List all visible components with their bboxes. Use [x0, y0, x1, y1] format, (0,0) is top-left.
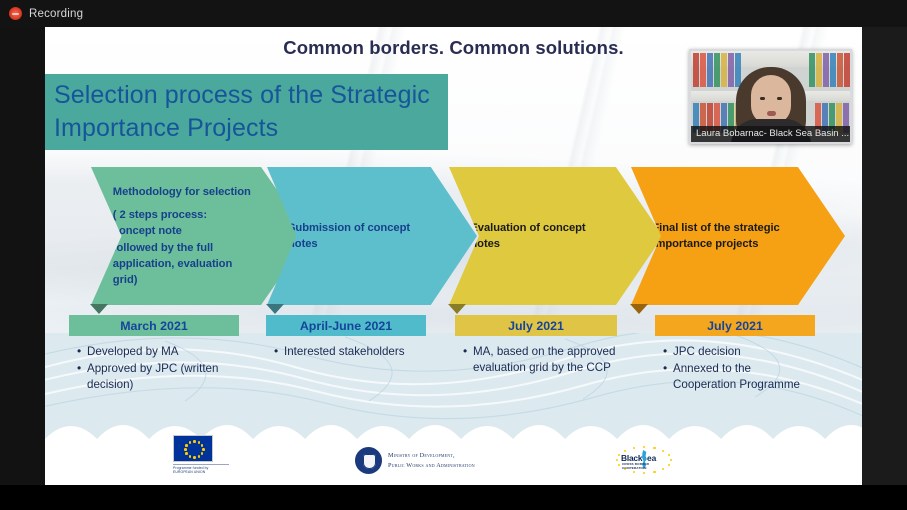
arrow-label-submission: Submission of conceptnotes — [267, 220, 477, 252]
detail-column-evaluation: July 2021MA, based on the approved evalu… — [455, 315, 617, 377]
ministry-text: Ministry of Development, Public Works an… — [388, 451, 475, 470]
process-arrow-submission: Submission of conceptnotes — [267, 167, 477, 305]
slide-title-line-1: Selection process of the Strategic — [54, 79, 448, 113]
eu-star-icon — [189, 441, 192, 444]
detail-column-methodology: March 2021Developed by MAApproved by JPC… — [69, 315, 239, 394]
black-sea-star-icon — [668, 454, 670, 456]
screen-share-window: Recording — [0, 0, 907, 510]
black-sea-subtitle: CROSS BORDER COOPERATION — [622, 462, 649, 470]
eu-star-icon — [189, 455, 192, 458]
black-sea-logo: Black ea CROSS BORDER COOPERATION — [613, 445, 675, 475]
detail-column-submission: April-June 2021Interested stakeholders — [266, 315, 426, 361]
binder-icon — [816, 53, 822, 87]
arrow-notch-submission — [266, 304, 284, 314]
participant-name-label: Laura Bobarnac- Black Sea Basin ... — [691, 126, 850, 142]
black-sea-star-icon — [653, 447, 655, 449]
eu-caption: Programme funded by EUROPEAN UNION — [173, 464, 229, 475]
black-sea-star-icon — [643, 472, 645, 474]
binder-icon — [850, 103, 852, 133]
process-detail-columns: March 2021Developed by MAApproved by JPC… — [45, 315, 862, 435]
list-item: Annexed to the Cooperation Programme — [663, 361, 815, 393]
list-item: Interested stakeholders — [274, 344, 426, 360]
slide-footer: Programme funded by EUROPEAN UNION Minis… — [45, 431, 862, 477]
black-sea-star-icon — [633, 447, 635, 449]
arrow-notch-evaluation — [448, 304, 466, 314]
list-item: Developed by MA — [77, 344, 239, 360]
recording-indicator[interactable]: Recording — [9, 7, 83, 20]
date-badge-submission: April-June 2021 — [266, 315, 426, 336]
binder-icon — [721, 53, 727, 87]
eu-star-icon — [185, 444, 188, 447]
black-sea-star-icon — [616, 459, 618, 461]
recording-label: Recording — [29, 8, 83, 20]
eu-star-icon — [201, 444, 204, 447]
black-sea-star-icon — [643, 446, 645, 448]
date-badge-evaluation: July 2021 — [455, 315, 617, 336]
recording-bar: Recording — [0, 0, 907, 27]
black-sea-star-icon — [670, 459, 672, 461]
arrow-notch-final-list — [630, 304, 648, 314]
presentation-slide: Common borders. Common solutions. Select… — [45, 27, 862, 485]
eu-star-icon — [184, 448, 187, 451]
ministry-line-2: Public Works and Administration — [388, 461, 475, 470]
binder-icon — [700, 53, 706, 87]
black-sea-star-icon — [653, 471, 655, 473]
list-item: Approved by JPC (written decision) — [77, 361, 239, 393]
bullet-list-final-list: JPC decisionAnnexed to the Cooperation P… — [655, 344, 815, 393]
slide-title-box: Selection process of the Strategic Impor… — [45, 74, 448, 150]
record-dot-icon — [9, 7, 22, 20]
ministry-seal-icon — [355, 447, 382, 474]
black-sea-star-icon — [668, 464, 670, 466]
eu-star-icon — [193, 440, 196, 443]
process-arrow-final-list: Final list of the strategicimportance pr… — [631, 167, 845, 305]
binder-icon — [693, 53, 699, 87]
detail-column-final-list: July 2021JPC decisionAnnexed to the Coop… — [655, 315, 815, 394]
black-sea-sub-2: COOPERATION — [622, 466, 646, 470]
right-gutter — [862, 27, 907, 510]
bullet-list-methodology: Developed by MAApproved by JPC (written … — [69, 344, 239, 393]
ministry-line-1: Ministry of Development, — [388, 451, 475, 460]
eu-flag-logo: Programme funded by EUROPEAN UNION — [173, 435, 217, 475]
binder-icon — [823, 53, 829, 87]
arrow-label-final-list: Final list of the strategicimportance pr… — [631, 220, 845, 252]
ministry-logo: Ministry of Development, Public Works an… — [355, 447, 475, 474]
arrow-notch-methodology — [90, 304, 108, 314]
binder-icon — [844, 53, 850, 87]
bullet-list-evaluation: MA, based on the approved evaluation gri… — [455, 344, 617, 376]
eu-star-icon — [202, 448, 205, 451]
date-badge-final-list: July 2021 — [655, 315, 815, 336]
eu-caption-line-2: EUROPEAN UNION — [173, 470, 229, 475]
participant-video-tile[interactable]: Laura Bobarnac- Black Sea Basin ... — [689, 49, 852, 144]
list-item: JPC decision — [663, 344, 815, 360]
black-sea-star-icon — [662, 468, 664, 470]
process-arrow-row: Methodology for selection( 2 steps proce… — [45, 167, 862, 322]
arrow-shape-submission: Submission of conceptnotes — [267, 167, 477, 305]
black-sea-star-icon — [633, 471, 635, 473]
eu-star-icon — [198, 455, 201, 458]
black-sea-star-icon — [624, 450, 626, 452]
bullet-list-submission: Interested stakeholders — [266, 344, 426, 360]
date-badge-methodology: March 2021 — [69, 315, 239, 336]
black-sea-star-icon — [618, 464, 620, 466]
list-item: MA, based on the approved evaluation gri… — [463, 344, 617, 376]
eu-star-icon — [185, 452, 188, 455]
binder-icon — [707, 53, 713, 87]
bottom-gutter — [0, 485, 907, 510]
binder-icon — [830, 53, 836, 87]
black-sea-star-icon — [662, 450, 664, 452]
eu-flag-icon — [173, 435, 213, 462]
left-gutter — [0, 27, 45, 510]
arrow-shape-final-list: Final list of the strategicimportance pr… — [631, 167, 845, 305]
eu-star-icon — [198, 441, 201, 444]
black-sea-star-icon — [618, 454, 620, 456]
binder-icon — [714, 53, 720, 87]
binder-icon — [851, 53, 852, 87]
eu-star-icon — [201, 452, 204, 455]
eu-star-icon — [193, 456, 196, 459]
slide-title-line-2: Importance Projects — [54, 112, 448, 146]
binder-icon — [837, 53, 843, 87]
